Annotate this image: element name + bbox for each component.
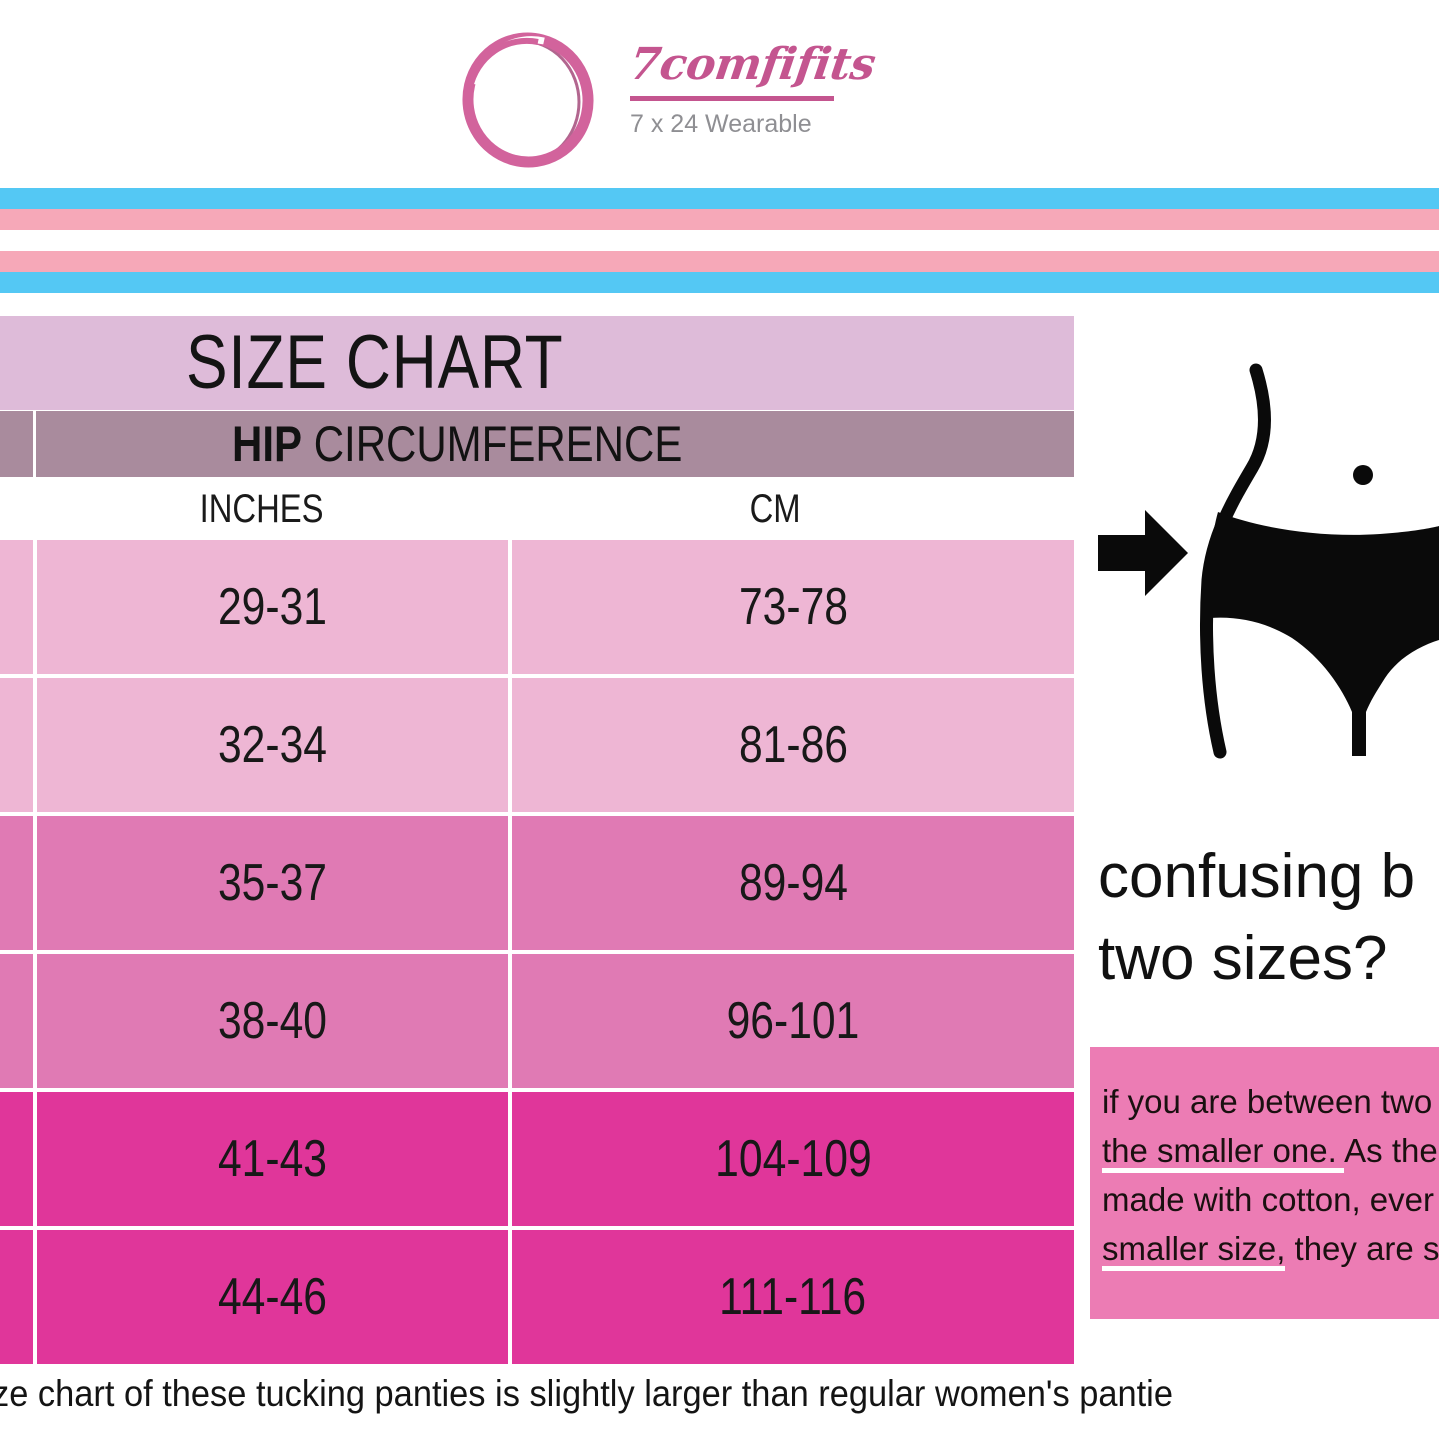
right-info-panel: confusing b two sizes? if you are betwee…: [1080, 316, 1439, 1331]
cell-inches: 38-40: [37, 954, 508, 1088]
stripe-pink-top: [0, 209, 1439, 230]
stripe-pink-bottom: [0, 251, 1439, 272]
hip-silhouette-illustration: [1080, 340, 1439, 780]
row-size-swatch: [0, 1230, 33, 1364]
cell-inches: 29-31: [37, 540, 508, 674]
cell-cm: 81-86: [512, 678, 1074, 812]
brand-divider-rule: [630, 96, 834, 101]
cell-inches-value: 44-46: [218, 1268, 327, 1326]
ring-logo-icon: [452, 26, 600, 174]
row-size-swatch: [0, 678, 33, 812]
sizing-advice-box: if you are between two the smaller one. …: [1090, 1047, 1439, 1319]
stripe-blue-top: [0, 188, 1439, 209]
table-row: 41-43 104-109: [0, 1092, 1074, 1226]
unit-header-row: INCHES CM: [0, 477, 1074, 540]
row-size-swatch: [0, 816, 33, 950]
logo-text-block: 7comfifits 7 x 24 Wearable: [630, 40, 890, 139]
row-size-swatch: [0, 540, 33, 674]
info-line: the smaller one. As the: [1102, 1126, 1439, 1175]
cell-inches-value: 29-31: [218, 578, 327, 636]
cell-inches-value: 35-37: [218, 854, 327, 912]
table-row: 44-46 111-116: [0, 1230, 1074, 1364]
cell-cm: 73-78: [512, 540, 1074, 674]
cell-inches-value: 38-40: [218, 992, 327, 1050]
page-title: SIZE CHART: [186, 323, 564, 403]
transgender-pride-stripes: [0, 188, 1439, 293]
chart-subtitle-bold: HIP: [232, 416, 302, 472]
size-chart-table: SIZE CHART HIP CIRCUMFERENCE INCHES CM 2…: [0, 316, 1074, 1364]
hip-circumference-band: HIP CIRCUMFERENCE: [0, 411, 1074, 477]
cell-cm: 111-116: [512, 1230, 1074, 1364]
info-line: smaller size, they are s: [1102, 1224, 1439, 1273]
chart-subtitle-rest: CIRCUMFERENCE: [302, 416, 682, 472]
cell-cm-value: 104-109: [715, 1130, 871, 1188]
cell-inches-value: 41-43: [218, 1130, 327, 1188]
brand-name: 7comfifits: [626, 40, 893, 90]
cell-cm-value: 81-86: [738, 716, 847, 774]
footer-note: ze chart of these tucking panties is sli…: [0, 1372, 1350, 1416]
column-header-cm: CM: [750, 487, 801, 531]
cell-cm: 96-101: [512, 954, 1074, 1088]
cell-cm: 89-94: [512, 816, 1074, 950]
chart-subtitle: HIP CIRCUMFERENCE: [232, 416, 682, 472]
stripe-white-middle: [0, 230, 1439, 251]
unit-row-left-gap: [33, 477, 36, 540]
cell-cm: 104-109: [512, 1092, 1074, 1226]
size-chart-page: 7comfifits 7 x 24 Wearable SIZE CHART HI…: [0, 0, 1439, 1439]
right-heading-line-2: two sizes?: [1098, 918, 1439, 1000]
info-line: made with cotton, ever: [1102, 1175, 1439, 1224]
cell-cm-value: 111-116: [719, 1268, 866, 1326]
right-arrow-icon: [1098, 510, 1188, 596]
logo-header: 7comfifits 7 x 24 Wearable: [0, 0, 1439, 188]
table-row: 38-40 96-101: [0, 954, 1074, 1088]
table-row: 35-37 89-94: [0, 816, 1074, 950]
size-chart-title-band: SIZE CHART: [0, 316, 1074, 410]
brand-tagline: 7 x 24 Wearable: [630, 109, 890, 139]
cell-inches-value: 32-34: [218, 716, 327, 774]
right-panel-heading: confusing b two sizes?: [1098, 836, 1439, 1000]
cell-cm-value: 73-78: [738, 578, 847, 636]
info-line: if you are between two: [1102, 1077, 1439, 1126]
row-size-swatch: [0, 954, 33, 1088]
band-left-gap: [33, 411, 36, 477]
row-size-swatch: [0, 1092, 33, 1226]
size-chart-rows: 29-31 73-78 32-34 81-86 35-37: [0, 540, 1074, 1364]
table-row: 29-31 73-78: [0, 540, 1074, 674]
cell-cm-value: 89-94: [738, 854, 847, 912]
column-header-inches: INCHES: [200, 487, 324, 531]
cell-inches: 35-37: [37, 816, 508, 950]
right-heading-line-1: confusing b: [1098, 836, 1439, 918]
cell-inches: 41-43: [37, 1092, 508, 1226]
cell-inches: 32-34: [37, 678, 508, 812]
cell-cm-value: 96-101: [727, 992, 860, 1050]
stripe-blue-bottom: [0, 272, 1439, 293]
cell-inches: 44-46: [37, 1230, 508, 1364]
table-row: 32-34 81-86: [0, 678, 1074, 812]
